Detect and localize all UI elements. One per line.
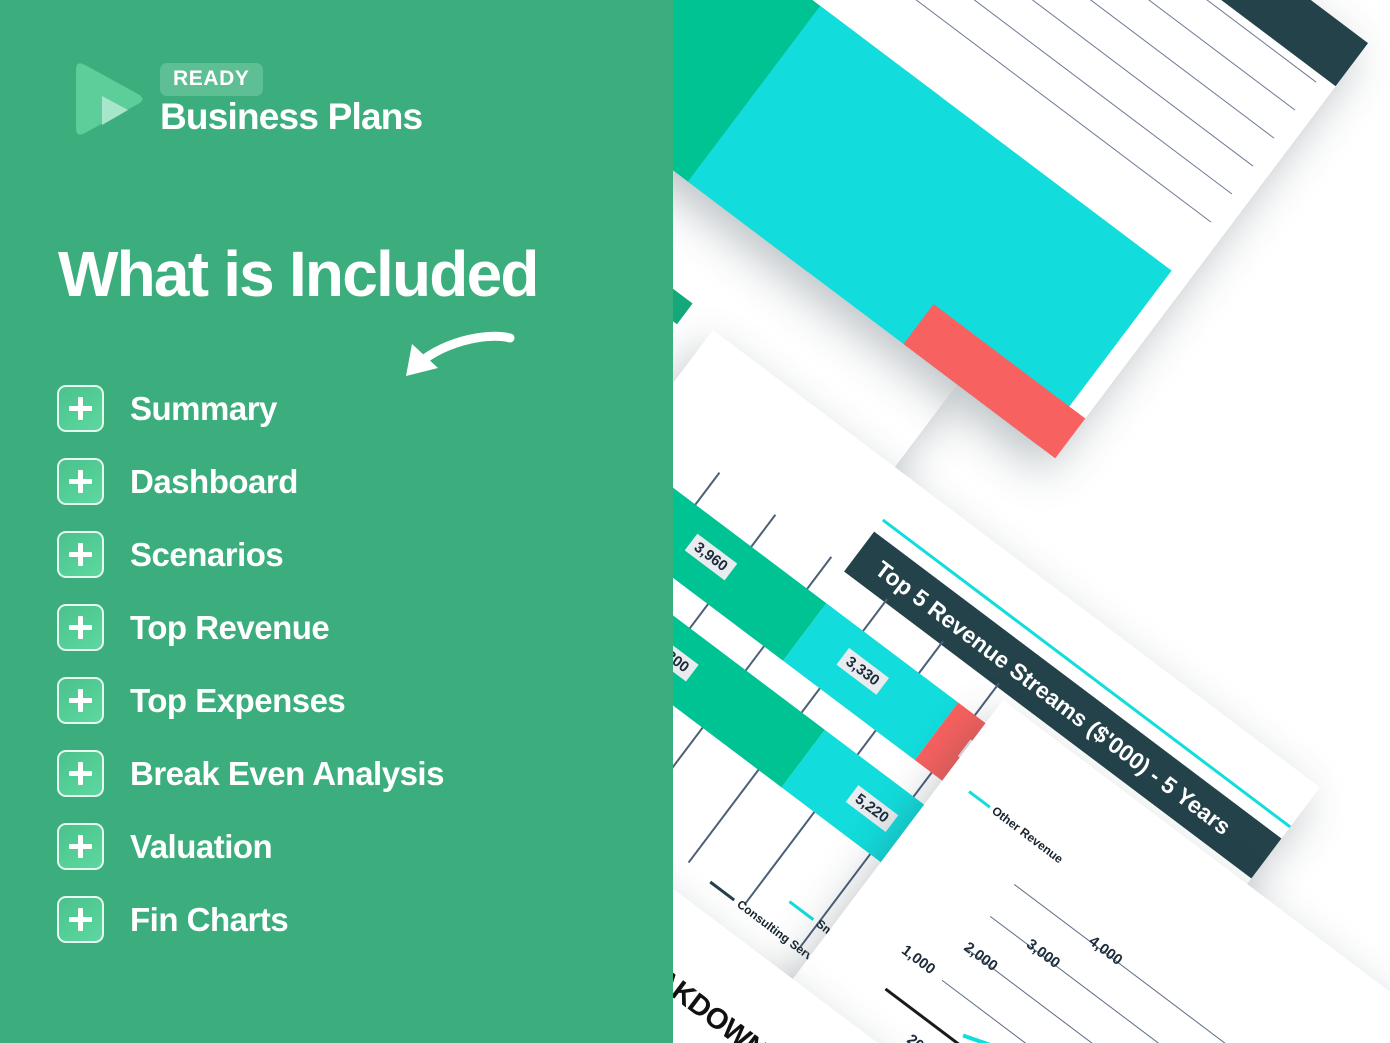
page-title: What is Included — [58, 242, 538, 306]
feature-item-top-expenses[interactable]: Top Expenses — [57, 677, 444, 724]
plus-icon[interactable] — [57, 385, 104, 432]
curved-arrow-icon — [390, 324, 520, 394]
feature-label: Break Even Analysis — [130, 755, 444, 793]
feature-item-summary[interactable]: Summary — [57, 385, 444, 432]
play-triangle-icon — [68, 58, 146, 140]
feature-item-top-revenue[interactable]: Top Revenue — [57, 604, 444, 651]
feature-item-dashboard[interactable]: Dashboard — [57, 458, 444, 505]
spreadsheet-preview-collage: 2028 2029 2030 649 781 485 298 214 2,428… — [673, 0, 1390, 1043]
brand-name: Business Plans — [160, 98, 422, 137]
feature-item-scenarios[interactable]: Scenarios — [57, 531, 444, 578]
brand-logo[interactable]: READY Business Plans — [68, 58, 422, 140]
feature-item-fin-charts[interactable]: Fin Charts — [57, 896, 444, 943]
feature-label: Top Revenue — [130, 609, 329, 647]
feature-item-break-even-analysis[interactable]: Break Even Analysis — [57, 750, 444, 797]
feature-label: Dashboard — [130, 463, 298, 501]
plus-icon[interactable] — [57, 458, 104, 505]
plus-icon[interactable] — [57, 604, 104, 651]
feature-label: Scenarios — [130, 536, 283, 574]
plus-icon[interactable] — [57, 896, 104, 943]
feature-label: Top Expenses — [130, 682, 345, 720]
plus-icon[interactable] — [57, 823, 104, 870]
plus-icon[interactable] — [57, 677, 104, 724]
promo-graphic: 2028 2029 2030 649 781 485 298 214 2,428… — [0, 0, 1390, 1043]
plus-icon[interactable] — [57, 531, 104, 578]
feature-item-valuation[interactable]: Valuation — [57, 823, 444, 870]
ready-badge: READY — [160, 63, 263, 96]
left-green-panel: READY Business Plans What is Included Su… — [0, 0, 673, 1043]
plus-icon[interactable] — [57, 750, 104, 797]
feature-label: Summary — [130, 390, 277, 428]
feature-label: Valuation — [130, 828, 272, 866]
feature-label: Fin Charts — [130, 901, 288, 939]
features-list: Summary Dashboard Scenarios Top Revenue … — [57, 385, 444, 943]
